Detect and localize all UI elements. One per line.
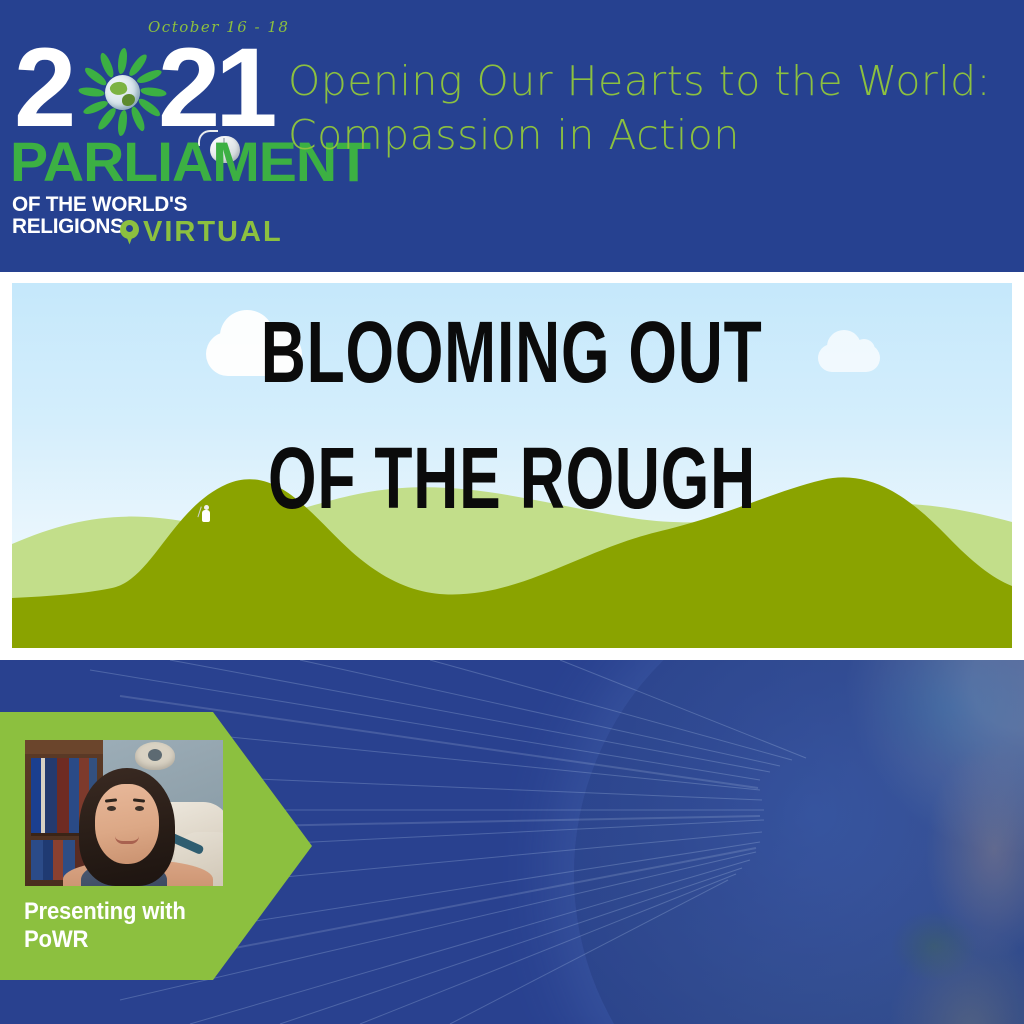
logo-virtual-label: VIRTUAL	[143, 218, 283, 247]
speaker-caption: Presenting with PoWR	[24, 898, 245, 954]
logo-digit-21: 21	[158, 40, 273, 136]
logo-digit-2: 2	[14, 40, 71, 136]
golfer-figure-icon	[199, 505, 213, 525]
header-banner: October 16 - 18 2	[0, 0, 1024, 272]
promotional-poster: October 16 - 18 2	[0, 0, 1024, 1024]
cloud-left	[206, 332, 302, 376]
leaf-sunburst-icon	[74, 44, 170, 140]
tagline-line-1: Opening Our Hearts to the World:	[288, 54, 1008, 108]
landscape-illustration	[12, 283, 1012, 648]
parliament-logo: October 16 - 18 2	[8, 18, 286, 248]
hills-graphic	[12, 448, 1012, 648]
tagline-line-2: Compassion in Action	[288, 108, 1008, 162]
cloud-right	[818, 344, 880, 372]
event-tagline: Opening Our Hearts to the World: Compass…	[288, 54, 1008, 162]
globe-icon	[105, 75, 140, 110]
location-pin-icon	[120, 220, 139, 246]
logo-year-2021: 2 21	[12, 40, 286, 138]
logo-virtual-row: VIRTUAL	[120, 218, 283, 247]
speaker-headshot	[25, 740, 223, 886]
